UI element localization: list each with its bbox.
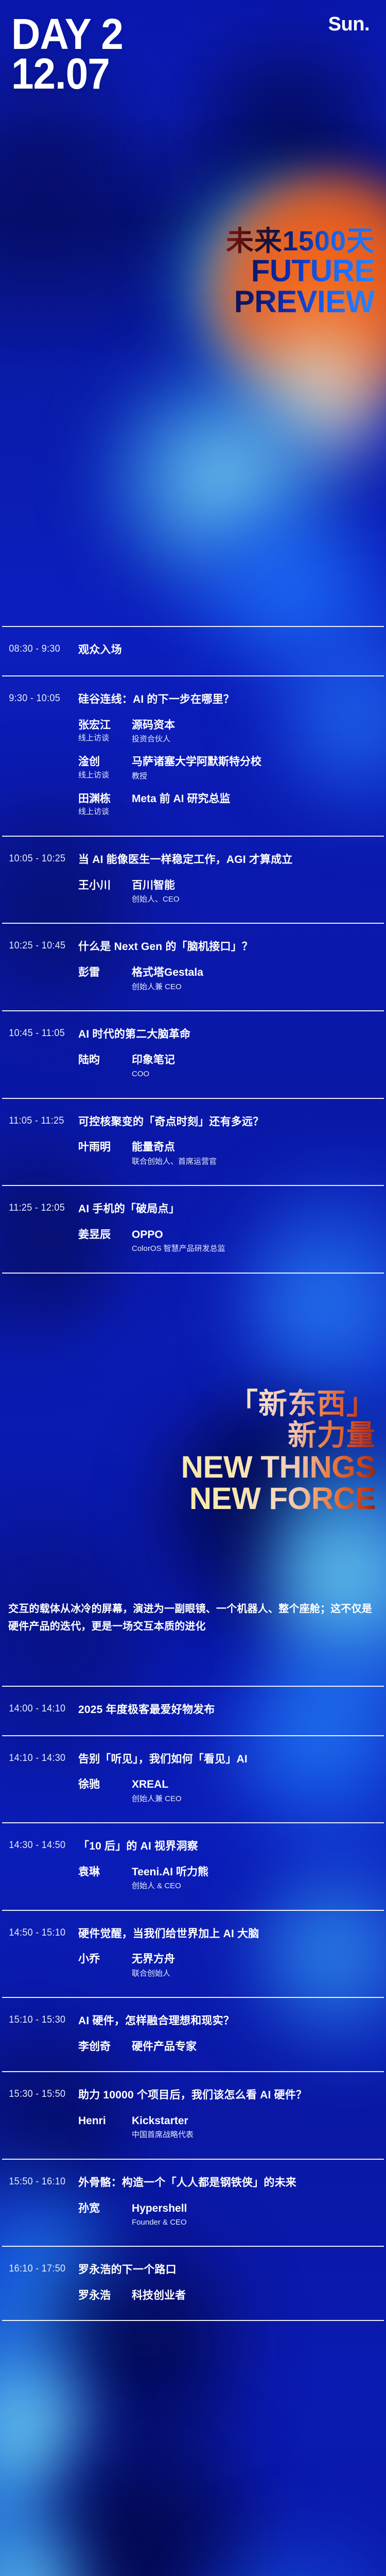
schedule-row: 08:30 - 9:30观众入场 [2, 626, 384, 675]
speaker-item: 李创奇硬件产品专家 [78, 2040, 379, 2054]
speaker-identity: 彭雷 [78, 966, 132, 979]
speaker-list: 姜昱辰OPPOColorOS 智慧产品研发总监 [78, 1228, 379, 1255]
schedule-row-time: 15:30 - 15:50 [2, 2088, 75, 2100]
speaker-item: 姜昱辰OPPOColorOS 智慧产品研发总监 [78, 1228, 379, 1255]
speaker-mode: 线上访谈 [78, 806, 132, 818]
schedule-row-time: 9:30 - 10:05 [2, 692, 75, 704]
speaker-item: 陆昀印象笔记COO [78, 1054, 379, 1080]
speaker-identity: 李创奇 [78, 2040, 132, 2054]
schedule-row-body: 助力 10000 个项目后，我们该怎么看 AI 硬件？HenriKickstar… [78, 2088, 384, 2141]
speaker-item: 田渊栋线上访谈Meta 前 AI 研究总监 [78, 792, 379, 818]
speaker-role: 创始人、CEO [132, 894, 379, 906]
speaker-affiliation: XREAL创始人兼 CEO [132, 1778, 379, 1805]
speaker-identity: 陆昀 [78, 1054, 132, 1067]
speaker-name: 李创奇 [78, 2040, 132, 2054]
schedule-row-title: AI 手机的「破局点」 [78, 1201, 379, 1217]
schedule-row-time: 14:30 - 14:50 [2, 1839, 75, 1851]
schedule-row-body: 2025 年度极客最爱好物发布 [78, 1702, 384, 1718]
speaker-org: XREAL [132, 1778, 379, 1791]
speaker-item: 叶雨明能量奇点联合创始人、首席运营官 [78, 1141, 379, 1167]
speaker-list: 小乔无界方舟联合创始人 [78, 1953, 379, 1979]
schedule-row-body: 「10 后」的 AI 视界洞察袁琳Teeni.AI 听力熊创始人 & CEO [78, 1839, 384, 1892]
speaker-identity: 叶雨明 [78, 1141, 132, 1154]
speaker-org: Hypershell [132, 2202, 379, 2215]
speaker-name: Henri [78, 2114, 132, 2128]
speaker-list: 张宏江线上访谈源码资本投资合伙人淦创线上访谈马萨诸塞大学阿默斯特分校教授田渊栋线… [78, 719, 379, 818]
speaker-item: HenriKickstarter中国首席战略代表 [78, 2114, 379, 2141]
schedule-row-time: 16:10 - 17:50 [2, 2262, 75, 2275]
schedule-row-body: 什么是 Next Gen 的「脑机接口」？彭雷格式塔Gestala创始人兼 CE… [78, 939, 384, 993]
schedule-row-title: 可控核聚变的「奇点时刻」还有多远？ [78, 1114, 379, 1130]
hero2-title-block: 「新东西」 新力量 NEW THINGS NEW FORCE [181, 1388, 376, 1515]
schedule-row-time: 14:00 - 14:10 [2, 1702, 75, 1715]
speaker-list: HenriKickstarter中国首席战略代表 [78, 2114, 379, 2141]
speaker-org: 百川智能 [132, 879, 379, 892]
day-heading: DAY 2 12.07 [11, 14, 131, 94]
speaker-name: 小乔 [78, 1953, 132, 1966]
schedule-row-title: 外骨骼：构造一个「人人都是钢铁侠」的未来 [78, 2175, 379, 2191]
schedule-row-time: 10:45 - 11:05 [2, 1027, 75, 1039]
hero-section-day2: DAY 2 12.07 Sun. 未来1500天 FUTURE PREVIEW [0, 0, 386, 626]
speaker-identity: Henri [78, 2114, 132, 2128]
speaker-affiliation: Kickstarter中国首席战略代表 [132, 2114, 379, 2141]
speaker-affiliation: 印象笔记COO [132, 1054, 379, 1080]
speaker-name: 彭雷 [78, 966, 132, 979]
speaker-affiliation: 格式塔Gestala创始人兼 CEO [132, 966, 379, 993]
speaker-affiliation: 百川智能创始人、CEO [132, 879, 379, 906]
speaker-name: 孙宽 [78, 2202, 132, 2215]
speaker-item: 彭雷格式塔Gestala创始人兼 CEO [78, 966, 379, 993]
schedule-row-body: AI 硬件，怎样融合理想和现实？李创奇硬件产品专家 [78, 2013, 384, 2054]
hero1-title-en-line1: FUTURE [226, 256, 375, 286]
speaker-affiliation: 马萨诸塞大学阿默斯特分校教授 [132, 755, 379, 782]
speaker-name: 叶雨明 [78, 1141, 132, 1154]
weekday-label: Sun. [328, 13, 370, 36]
speaker-org: 科技创业者 [132, 2289, 379, 2302]
schedule-row: 15:50 - 16:10外骨骼：构造一个「人人都是钢铁侠」的未来孙宽Hyper… [2, 2159, 384, 2246]
speaker-org: 能量奇点 [132, 1141, 379, 1154]
speaker-role: 中国首席战略代表 [132, 2129, 379, 2141]
schedule-row: 10:45 - 11:05AI 时代的第二大脑革命陆昀印象笔记COO [2, 1010, 384, 1098]
speaker-affiliation: Meta 前 AI 研究总监 [132, 792, 379, 806]
speaker-name: 张宏江 [78, 719, 132, 732]
speaker-item: 徐驰XREAL创始人兼 CEO [78, 1778, 379, 1805]
schedule-row-title: AI 硬件，怎样融合理想和现实？ [78, 2013, 379, 2029]
speaker-list: 王小川百川智能创始人、CEO [78, 879, 379, 906]
schedule-row-title: 助力 10000 个项目后，我们该怎么看 AI 硬件？ [78, 2088, 379, 2103]
speaker-item: 王小川百川智能创始人、CEO [78, 879, 379, 906]
speaker-list: 李创奇硬件产品专家 [78, 2040, 379, 2054]
schedule-row-title: 2025 年度极客最爱好物发布 [78, 1702, 379, 1718]
speaker-name: 徐驰 [78, 1778, 132, 1791]
hero2-title-cn-line2: 新力量 [181, 1419, 376, 1451]
schedule-row-time: 11:05 - 11:25 [2, 1114, 75, 1127]
speaker-org: Teeni.AI 听力熊 [132, 1866, 379, 1879]
schedule-morning: 08:30 - 9:30观众入场9:30 - 10:05硅谷连线：AI 的下一步… [0, 626, 386, 1274]
speaker-affiliation: Teeni.AI 听力熊创始人 & CEO [132, 1866, 379, 1892]
speaker-org: Kickstarter [132, 2114, 379, 2128]
speaker-name: 罗永浩 [78, 2289, 132, 2302]
speaker-org: OPPO [132, 1228, 379, 1242]
speaker-affiliation: 科技创业者 [132, 2289, 379, 2302]
speaker-identity: 田渊栋线上访谈 [78, 792, 132, 818]
schedule-row-body: 可控核聚变的「奇点时刻」还有多远？叶雨明能量奇点联合创始人、首席运营官 [78, 1114, 384, 1168]
schedule-row-body: 硅谷连线：AI 的下一步在哪里？张宏江线上访谈源码资本投资合伙人淦创线上访谈马萨… [78, 692, 384, 818]
speaker-role: 教授 [132, 771, 379, 783]
speaker-mode: 线上访谈 [78, 733, 132, 744]
speaker-item: 袁琳Teeni.AI 听力熊创始人 & CEO [78, 1866, 379, 1892]
speaker-role: Founder & CEO [132, 2217, 379, 2229]
schedule-row: 14:00 - 14:102025 年度极客最爱好物发布 [2, 1686, 384, 1735]
speaker-role: ColorOS 智慧产品研发总监 [132, 1243, 379, 1255]
speaker-list: 彭雷格式塔Gestala创始人兼 CEO [78, 966, 379, 993]
speaker-list: 罗永浩科技创业者 [78, 2289, 379, 2302]
speaker-name: 淦创 [78, 755, 132, 769]
speaker-org: 源码资本 [132, 719, 379, 732]
speaker-org: 硬件产品专家 [132, 2040, 379, 2054]
schedule-row-title: 什么是 Next Gen 的「脑机接口」？ [78, 939, 379, 955]
hero1-title-cn: 未来1500天 [226, 227, 375, 256]
schedule-row: 11:25 - 12:05AI 手机的「破局点」姜昱辰OPPOColorOS 智… [2, 1185, 384, 1274]
page-footer-space [0, 2321, 386, 2443]
schedule-row: 14:30 - 14:50「10 后」的 AI 视界洞察袁琳Teeni.AI 听… [2, 1822, 384, 1910]
schedule-row-time: 10:25 - 10:45 [2, 939, 75, 952]
schedule-row-title: 告别「听见」，我们如何「看见」AI [78, 1752, 379, 1767]
schedule-row: 9:30 - 10:05硅谷连线：AI 的下一步在哪里？张宏江线上访谈源码资本投… [2, 675, 384, 836]
schedule-row-body: 当 AI 能像医生一样稳定工作，AGI 才算成立王小川百川智能创始人、CEO [78, 852, 384, 906]
schedule-row: 15:30 - 15:50助力 10000 个项目后，我们该怎么看 AI 硬件？… [2, 2071, 384, 2159]
schedule-row-body: 硬件觉醒，当我们给世界加上 AI 大脑小乔无界方舟联合创始人 [78, 1926, 384, 1980]
hero1-title-en-line2: PREVIEW [226, 286, 375, 317]
schedule-row-time: 11:25 - 12:05 [2, 1201, 75, 1214]
speaker-affiliation: OPPOColorOS 智慧产品研发总监 [132, 1228, 379, 1255]
hero2-title-en-line1: NEW THINGS [181, 1451, 376, 1483]
schedule-row: 10:05 - 10:25当 AI 能像医生一样稳定工作，AGI 才算成立王小川… [2, 836, 384, 923]
speaker-role: COO [132, 1069, 379, 1080]
speaker-item: 孙宽HypershellFounder & CEO [78, 2202, 379, 2229]
speaker-org: 印象笔记 [132, 1054, 379, 1067]
speaker-role: 创始人兼 CEO [132, 1793, 379, 1805]
hero-section-new-force: 「新东西」 新力量 NEW THINGS NEW FORCE 交互的载体从冰冷的… [0, 1274, 386, 1686]
speaker-affiliation: 源码资本投资合伙人 [132, 719, 379, 745]
schedule-row-title: 当 AI 能像医生一样稳定工作，AGI 才算成立 [78, 852, 379, 868]
schedule-row: 16:10 - 17:50罗永浩的下一个路口罗永浩科技创业者 [2, 2246, 384, 2321]
speaker-role: 联合创始人 [132, 1968, 379, 1980]
speaker-org: 格式塔Gestala [132, 966, 379, 979]
schedule-row-body: 告别「听见」，我们如何「看见」AI徐驰XREAL创始人兼 CEO [78, 1752, 384, 1805]
schedule-row-title: 「10 后」的 AI 视界洞察 [78, 1839, 379, 1854]
speaker-org: Meta 前 AI 研究总监 [132, 792, 379, 806]
schedule-row-time: 14:10 - 14:30 [2, 1752, 75, 1764]
schedule-row-body: AI 手机的「破局点」姜昱辰OPPOColorOS 智慧产品研发总监 [78, 1201, 384, 1255]
speaker-identity: 王小川 [78, 879, 132, 892]
speaker-item: 张宏江线上访谈源码资本投资合伙人 [78, 719, 379, 745]
speaker-identity: 罗永浩 [78, 2289, 132, 2302]
speaker-affiliation: HypershellFounder & CEO [132, 2202, 379, 2229]
schedule-row: 11:05 - 11:25可控核聚变的「奇点时刻」还有多远？叶雨明能量奇点联合创… [2, 1098, 384, 1185]
speaker-item: 罗永浩科技创业者 [78, 2289, 379, 2302]
speaker-name: 姜昱辰 [78, 1228, 132, 1242]
speaker-identity: 姜昱辰 [78, 1228, 132, 1242]
hero2-description: 交互的载体从冰冷的屏幕，演进为一副眼镜、一个机器人、整个座舱；这不仅是硬件产品的… [8, 1600, 378, 1636]
speaker-role: 创始人 & CEO [132, 1880, 379, 1892]
speaker-item: 小乔无界方舟联合创始人 [78, 1953, 379, 1979]
schedule-row: 14:50 - 15:10硬件觉醒，当我们给世界加上 AI 大脑小乔无界方舟联合… [2, 1910, 384, 1997]
speaker-identity: 张宏江线上访谈 [78, 719, 132, 744]
schedule-row: 14:10 - 14:30告别「听见」，我们如何「看见」AI徐驰XREAL创始人… [2, 1735, 384, 1823]
speaker-identity: 徐驰 [78, 1778, 132, 1791]
speaker-affiliation: 硬件产品专家 [132, 2040, 379, 2054]
day-heading-line1: DAY 2 [11, 14, 123, 54]
schedule-row-time: 14:50 - 15:10 [2, 1926, 75, 1939]
schedule-row-title: 硬件觉醒，当我们给世界加上 AI 大脑 [78, 1926, 379, 1942]
speaker-list: 叶雨明能量奇点联合创始人、首席运营官 [78, 1141, 379, 1167]
schedule-row: 10:25 - 10:45什么是 Next Gen 的「脑机接口」？彭雷格式塔G… [2, 923, 384, 1010]
schedule-row-title: 罗永浩的下一个路口 [78, 2262, 379, 2278]
speaker-identity: 小乔 [78, 1953, 132, 1966]
hero1-title-block: 未来1500天 FUTURE PREVIEW [226, 227, 375, 317]
speaker-identity: 淦创线上访谈 [78, 755, 132, 781]
schedule-row-title: AI 时代的第二大脑革命 [78, 1027, 379, 1042]
speaker-list: 陆昀印象笔记COO [78, 1054, 379, 1080]
speaker-list: 袁琳Teeni.AI 听力熊创始人 & CEO [78, 1866, 379, 1892]
speaker-item: 淦创线上访谈马萨诸塞大学阿默斯特分校教授 [78, 755, 379, 782]
schedule-row-body: 外骨骼：构造一个「人人都是钢铁侠」的未来孙宽HypershellFounder … [78, 2175, 384, 2229]
speaker-role: 联合创始人、首席运营官 [132, 1156, 379, 1168]
schedule-row-time: 10:05 - 10:25 [2, 852, 75, 865]
speaker-name: 陆昀 [78, 1054, 132, 1067]
schedule-row-time: 08:30 - 9:30 [2, 642, 75, 655]
schedule-row: 15:10 - 15:30AI 硬件，怎样融合理想和现实？李创奇硬件产品专家 [2, 1997, 384, 2071]
schedule-afternoon: 14:00 - 14:102025 年度极客最爱好物发布14:10 - 14:3… [0, 1686, 386, 2321]
speaker-name: 王小川 [78, 879, 132, 892]
speaker-name: 袁琳 [78, 1866, 132, 1879]
schedule-row-body: 观众入场 [78, 642, 384, 658]
speaker-role: 投资合伙人 [132, 734, 379, 745]
speaker-org: 马萨诸塞大学阿默斯特分校 [132, 755, 379, 769]
hero2-title-en-line2: NEW FORCE [181, 1483, 376, 1514]
speaker-identity: 孙宽 [78, 2202, 132, 2215]
schedule-row-time: 15:50 - 16:10 [2, 2175, 75, 2188]
speaker-mode: 线上访谈 [78, 770, 132, 782]
speaker-identity: 袁琳 [78, 1866, 132, 1879]
schedule-row-body: 罗永浩的下一个路口罗永浩科技创业者 [78, 2262, 384, 2302]
speaker-org: 无界方舟 [132, 1953, 379, 1966]
speaker-role: 创始人兼 CEO [132, 981, 379, 993]
speaker-affiliation: 无界方舟联合创始人 [132, 1953, 379, 1979]
speaker-list: 徐驰XREAL创始人兼 CEO [78, 1778, 379, 1805]
schedule-row-body: AI 时代的第二大脑革命陆昀印象笔记COO [78, 1027, 384, 1080]
speaker-affiliation: 能量奇点联合创始人、首席运营官 [132, 1141, 379, 1167]
speaker-name: 田渊栋 [78, 792, 132, 806]
schedule-row-title: 硅谷连线：AI 的下一步在哪里？ [78, 692, 379, 707]
schedule-row-time: 15:10 - 15:30 [2, 2013, 75, 2026]
schedule-row-title: 观众入场 [78, 642, 379, 658]
day-heading-line2: 12.07 [11, 54, 123, 94]
poster-page: DAY 2 12.07 Sun. 未来1500天 FUTURE PREVIEW … [0, 0, 386, 2443]
speaker-list: 孙宽HypershellFounder & CEO [78, 2202, 379, 2229]
hero2-title-cn-line1: 「新东西」 [181, 1388, 376, 1420]
